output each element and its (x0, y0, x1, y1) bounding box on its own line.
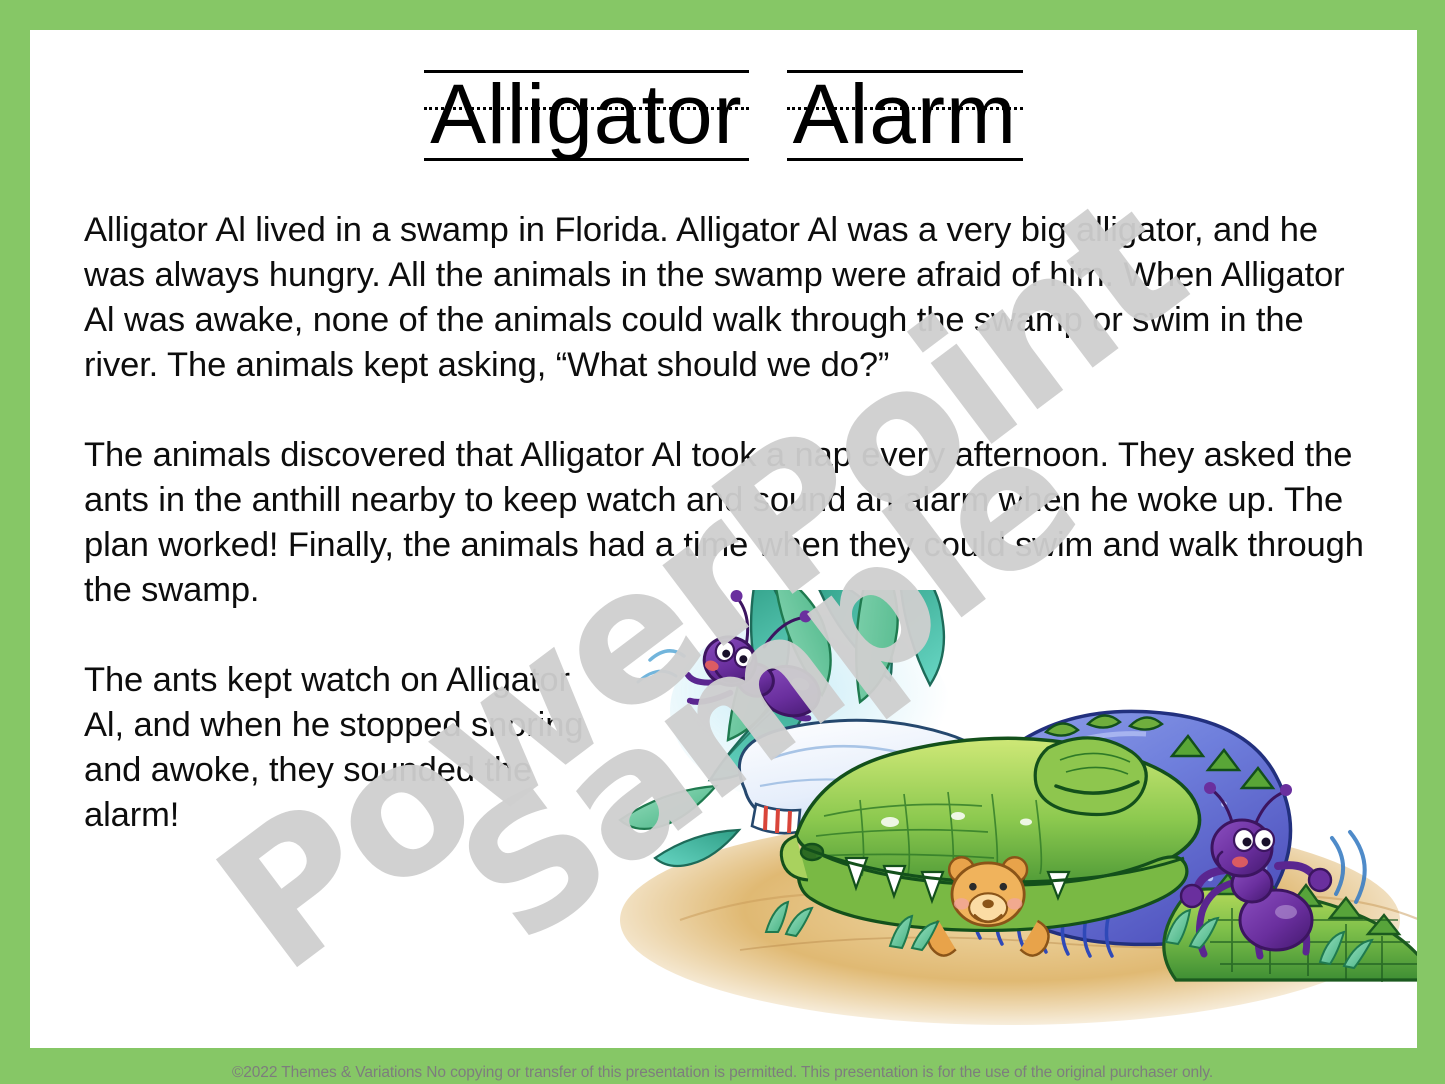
story-paragraph-2: The animals discovered that Alligator Al… (84, 433, 1364, 613)
teddy-bear (928, 857, 1049, 955)
story-paragraph-1: Alligator Al lived in a swamp in Florida… (84, 208, 1364, 388)
copyright-footer: ©2022 Themes & Variations No copying or … (0, 1064, 1445, 1082)
sandy-ground (620, 815, 1417, 1025)
paragraph-spacer-1 (84, 388, 1364, 433)
title-word-1: Alligator (424, 60, 748, 160)
slide-page: Alligator Alarm Alligator Al lived in a … (30, 30, 1417, 1048)
grass-tufts (766, 902, 1372, 968)
slide: Alligator Alarm Alligator Al lived in a … (0, 0, 1445, 1084)
page-title: Alligator Alarm (30, 60, 1417, 180)
title-word-2: Alarm (787, 60, 1023, 160)
story-paragraph-3: The ants kept watch on Alligator Al, and… (84, 658, 604, 838)
paragraph-spacer-2 (84, 613, 1364, 658)
title-word-1-text: Alligator (430, 60, 742, 160)
title-word-2-text: Alarm (793, 60, 1017, 160)
alligator-tail (1164, 874, 1417, 982)
story-text: Alligator Al lived in a swamp in Florida… (84, 208, 1364, 838)
